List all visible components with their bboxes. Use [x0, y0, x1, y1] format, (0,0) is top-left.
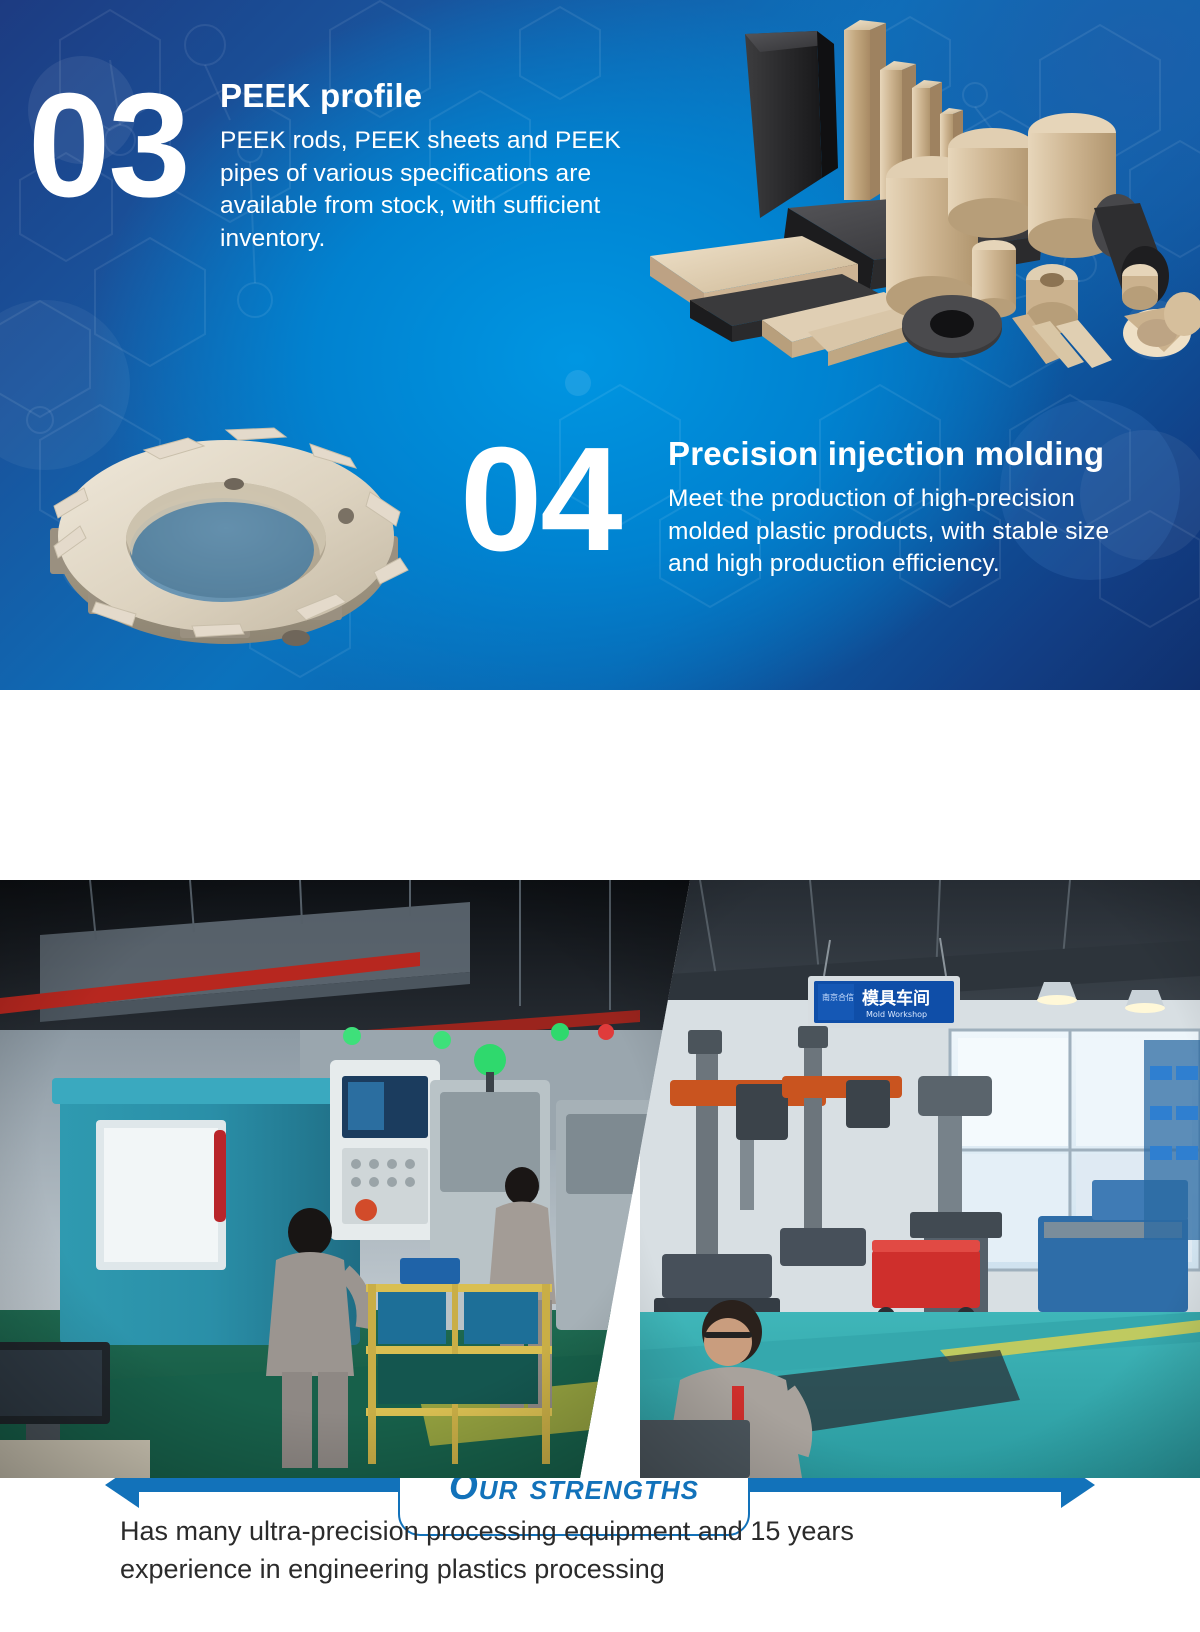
decor-bubble: [565, 370, 591, 396]
peek-profile-products-photo: [612, 8, 1200, 368]
section-03-title: PEEK profile: [220, 78, 650, 115]
section-03-text: PEEK profile PEEK rods, PEEK sheets and …: [220, 78, 650, 255]
black-block: [745, 31, 838, 218]
caption-line-1: Has many ultra-precision processing equi…: [120, 1512, 1120, 1550]
bottom-caption: Has many ultra-precision processing equi…: [120, 1512, 1120, 1589]
caption-line-2: experience in engineering plastics proce…: [120, 1550, 1120, 1588]
section-03-body: PEEK rods, PEEK sheets and PEEK pipes of…: [220, 125, 650, 255]
section-04-body: Meet the production of high-precision mo…: [668, 483, 1138, 581]
tan-small-tube: [1122, 264, 1158, 310]
gear-hole: [224, 478, 244, 490]
tan-square-bar: [844, 20, 886, 200]
section-number-04: 04: [460, 432, 621, 568]
tan-cylinder: [948, 128, 1036, 238]
cnc-machining-workshop-photo: [0, 880, 690, 1478]
peek-gear-ring-photo: [28, 388, 428, 673]
black-ring: [902, 295, 1002, 358]
gear-hole: [282, 630, 310, 646]
section-number-03: 03: [28, 78, 189, 214]
gear-top-face: [54, 428, 408, 646]
features-blue-panel: 03 PEEK profile PEEK rods, PEEK sheets a…: [0, 0, 1200, 690]
our-strengths-banner: Our strengths: [0, 690, 1200, 880]
mold-workshop-photo: 南京合信 模具车间 Mold Workshop: [640, 880, 1200, 1478]
section-04-title: Precision injection molding: [668, 436, 1138, 473]
photo-strip: 南京合信 模具车间 Mold Workshop: [0, 880, 1200, 1478]
section-04-text: Precision injection molding Meet the pro…: [668, 436, 1138, 581]
gear-hole: [338, 508, 354, 524]
